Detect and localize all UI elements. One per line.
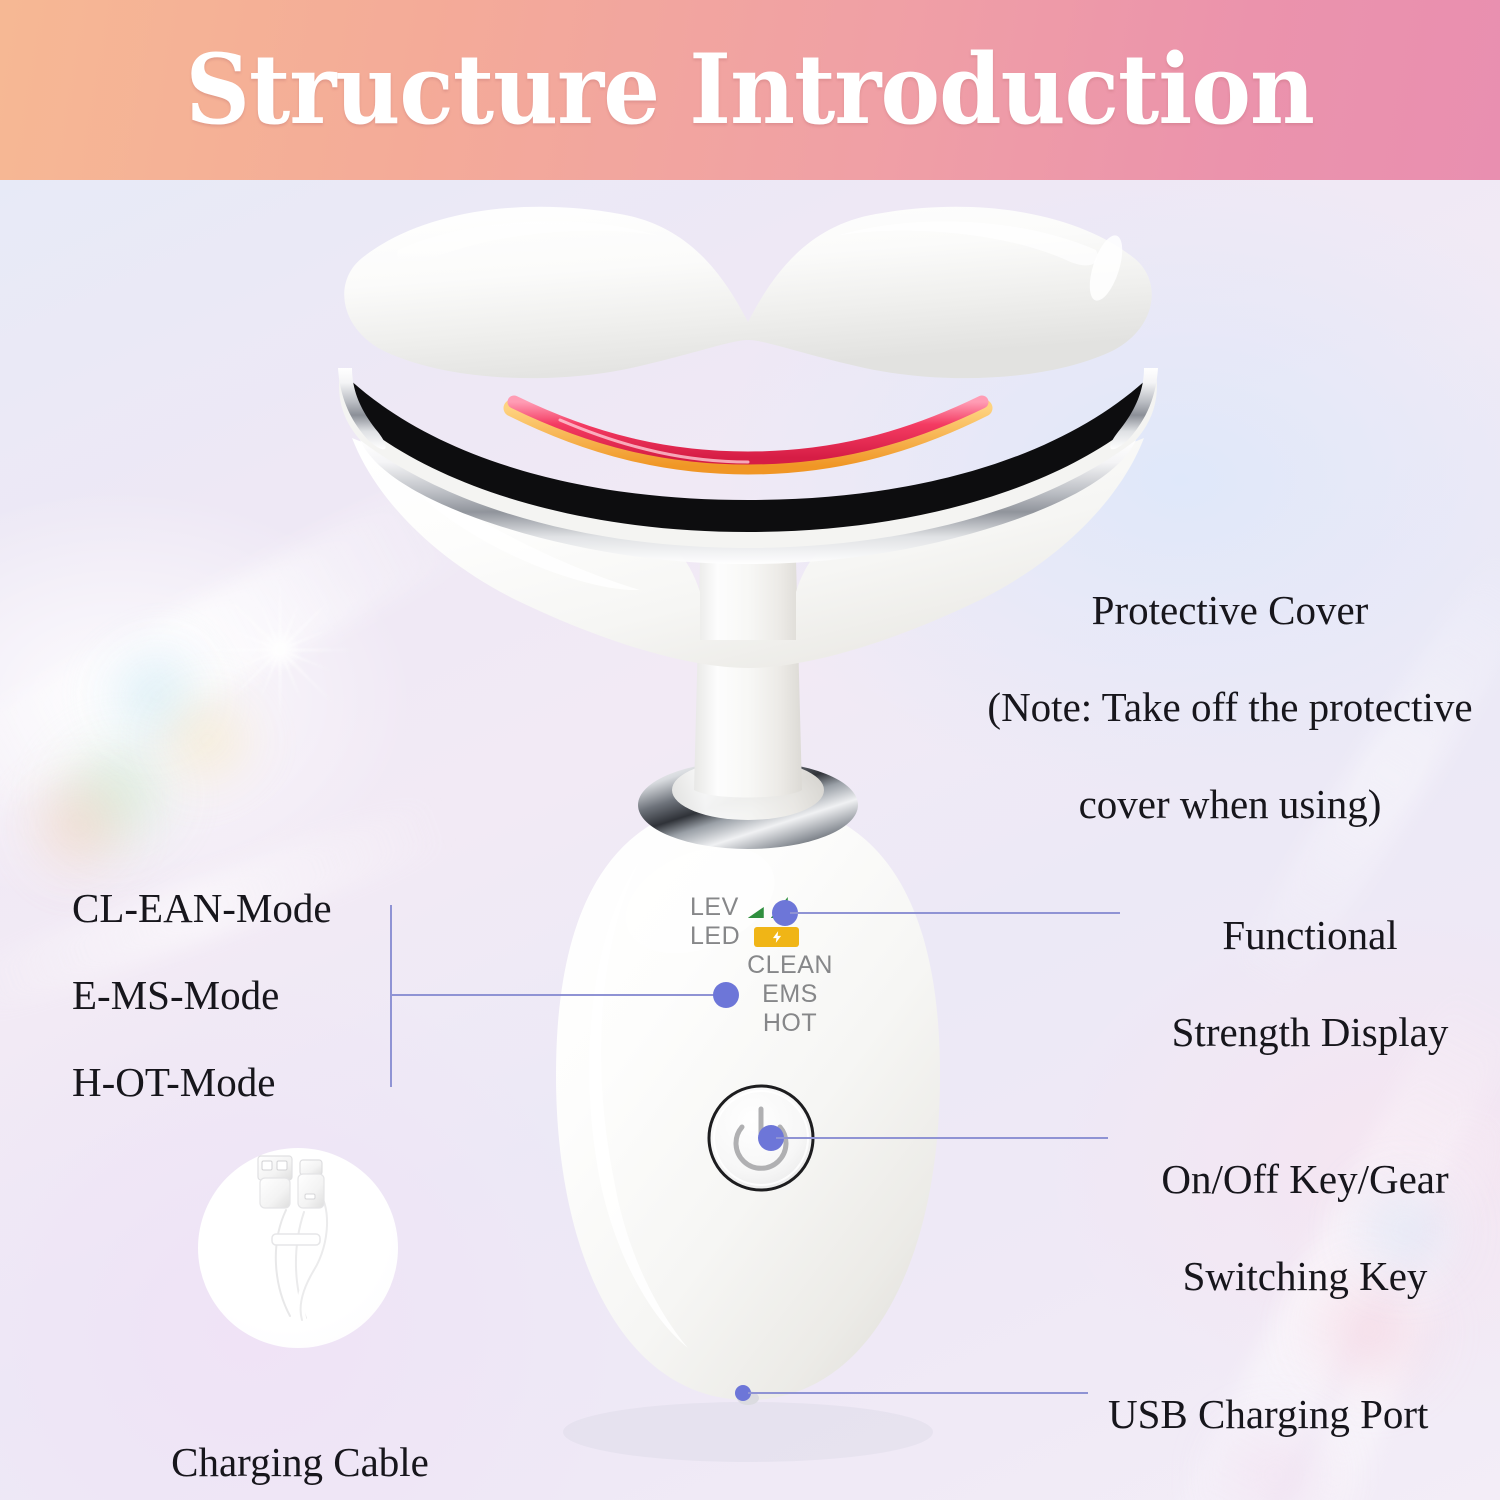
mode-label-hot: H-OT-Mode [72, 1058, 402, 1106]
light-streak [0, 470, 485, 841]
mode-callout-line [390, 994, 726, 996]
protective-cover-label: Protective Cover (Note: Take off the pro… [960, 538, 1500, 877]
usb-a-connector [258, 1156, 292, 1208]
usb-port-callout-line [748, 1392, 1088, 1394]
readout-row-hot: HOT [690, 1009, 890, 1038]
bokeh-blob [4, 756, 153, 894]
fsd-line-1: Functional [1120, 911, 1500, 959]
micro-usb-connector [298, 1160, 324, 1208]
readout-label-lev: LEV [690, 895, 739, 920]
fsd-line-2: Strength Display [1120, 1008, 1500, 1056]
charging-cable-photo [198, 1148, 398, 1348]
charging-cable-line-1: Charging Cable [60, 1438, 540, 1486]
protective-cover-note-2: cover when using) [960, 780, 1500, 828]
on-off-key-line-2: Switching Key [1110, 1252, 1500, 1300]
lev-bar-1 [748, 907, 764, 918]
bokeh-blob [139, 678, 274, 802]
bokeh-blob [81, 626, 231, 766]
lightning-icon-badge [754, 927, 799, 947]
strength-display-callout-line [790, 912, 1120, 914]
protective-cover-title: Protective Cover [960, 586, 1500, 634]
mode-label-clean: CL-EAN-Mode [72, 884, 402, 932]
on-off-key-line-1: On/Off Key/Gear [1110, 1155, 1500, 1203]
header-banner: Structure Introduction [0, 0, 1500, 180]
sparkle-icon [205, 575, 355, 725]
page-title: Structure Introduction [186, 42, 1314, 138]
mode-label-ems: E-MS-Mode [72, 971, 402, 1019]
mode-callout-dot [713, 982, 739, 1008]
usb-charging-port-label: USB Charging Port [1108, 1390, 1500, 1438]
readout-label-clean: CLEAN [747, 953, 833, 978]
charging-cable-label: Charging Cable (Package included) [60, 1390, 540, 1500]
power-key-callout-line [776, 1137, 1108, 1139]
readout-row-clean: CLEAN [690, 951, 890, 980]
readout-label-ems: EMS [762, 982, 818, 1007]
on-off-key-label: On/Off Key/Gear Switching Key [1110, 1107, 1500, 1349]
readout-row-led: LED [690, 922, 890, 951]
functional-strength-display-label: Functional Strength Display [1120, 863, 1500, 1105]
readout-label-hot: HOT [763, 1011, 817, 1036]
infographic-page: Structure Introduction [0, 0, 1500, 1500]
readout-label-led: LED [690, 924, 740, 949]
bokeh-blob [23, 710, 208, 880]
protective-cover-note-1: (Note: Take off the protective [960, 683, 1500, 731]
